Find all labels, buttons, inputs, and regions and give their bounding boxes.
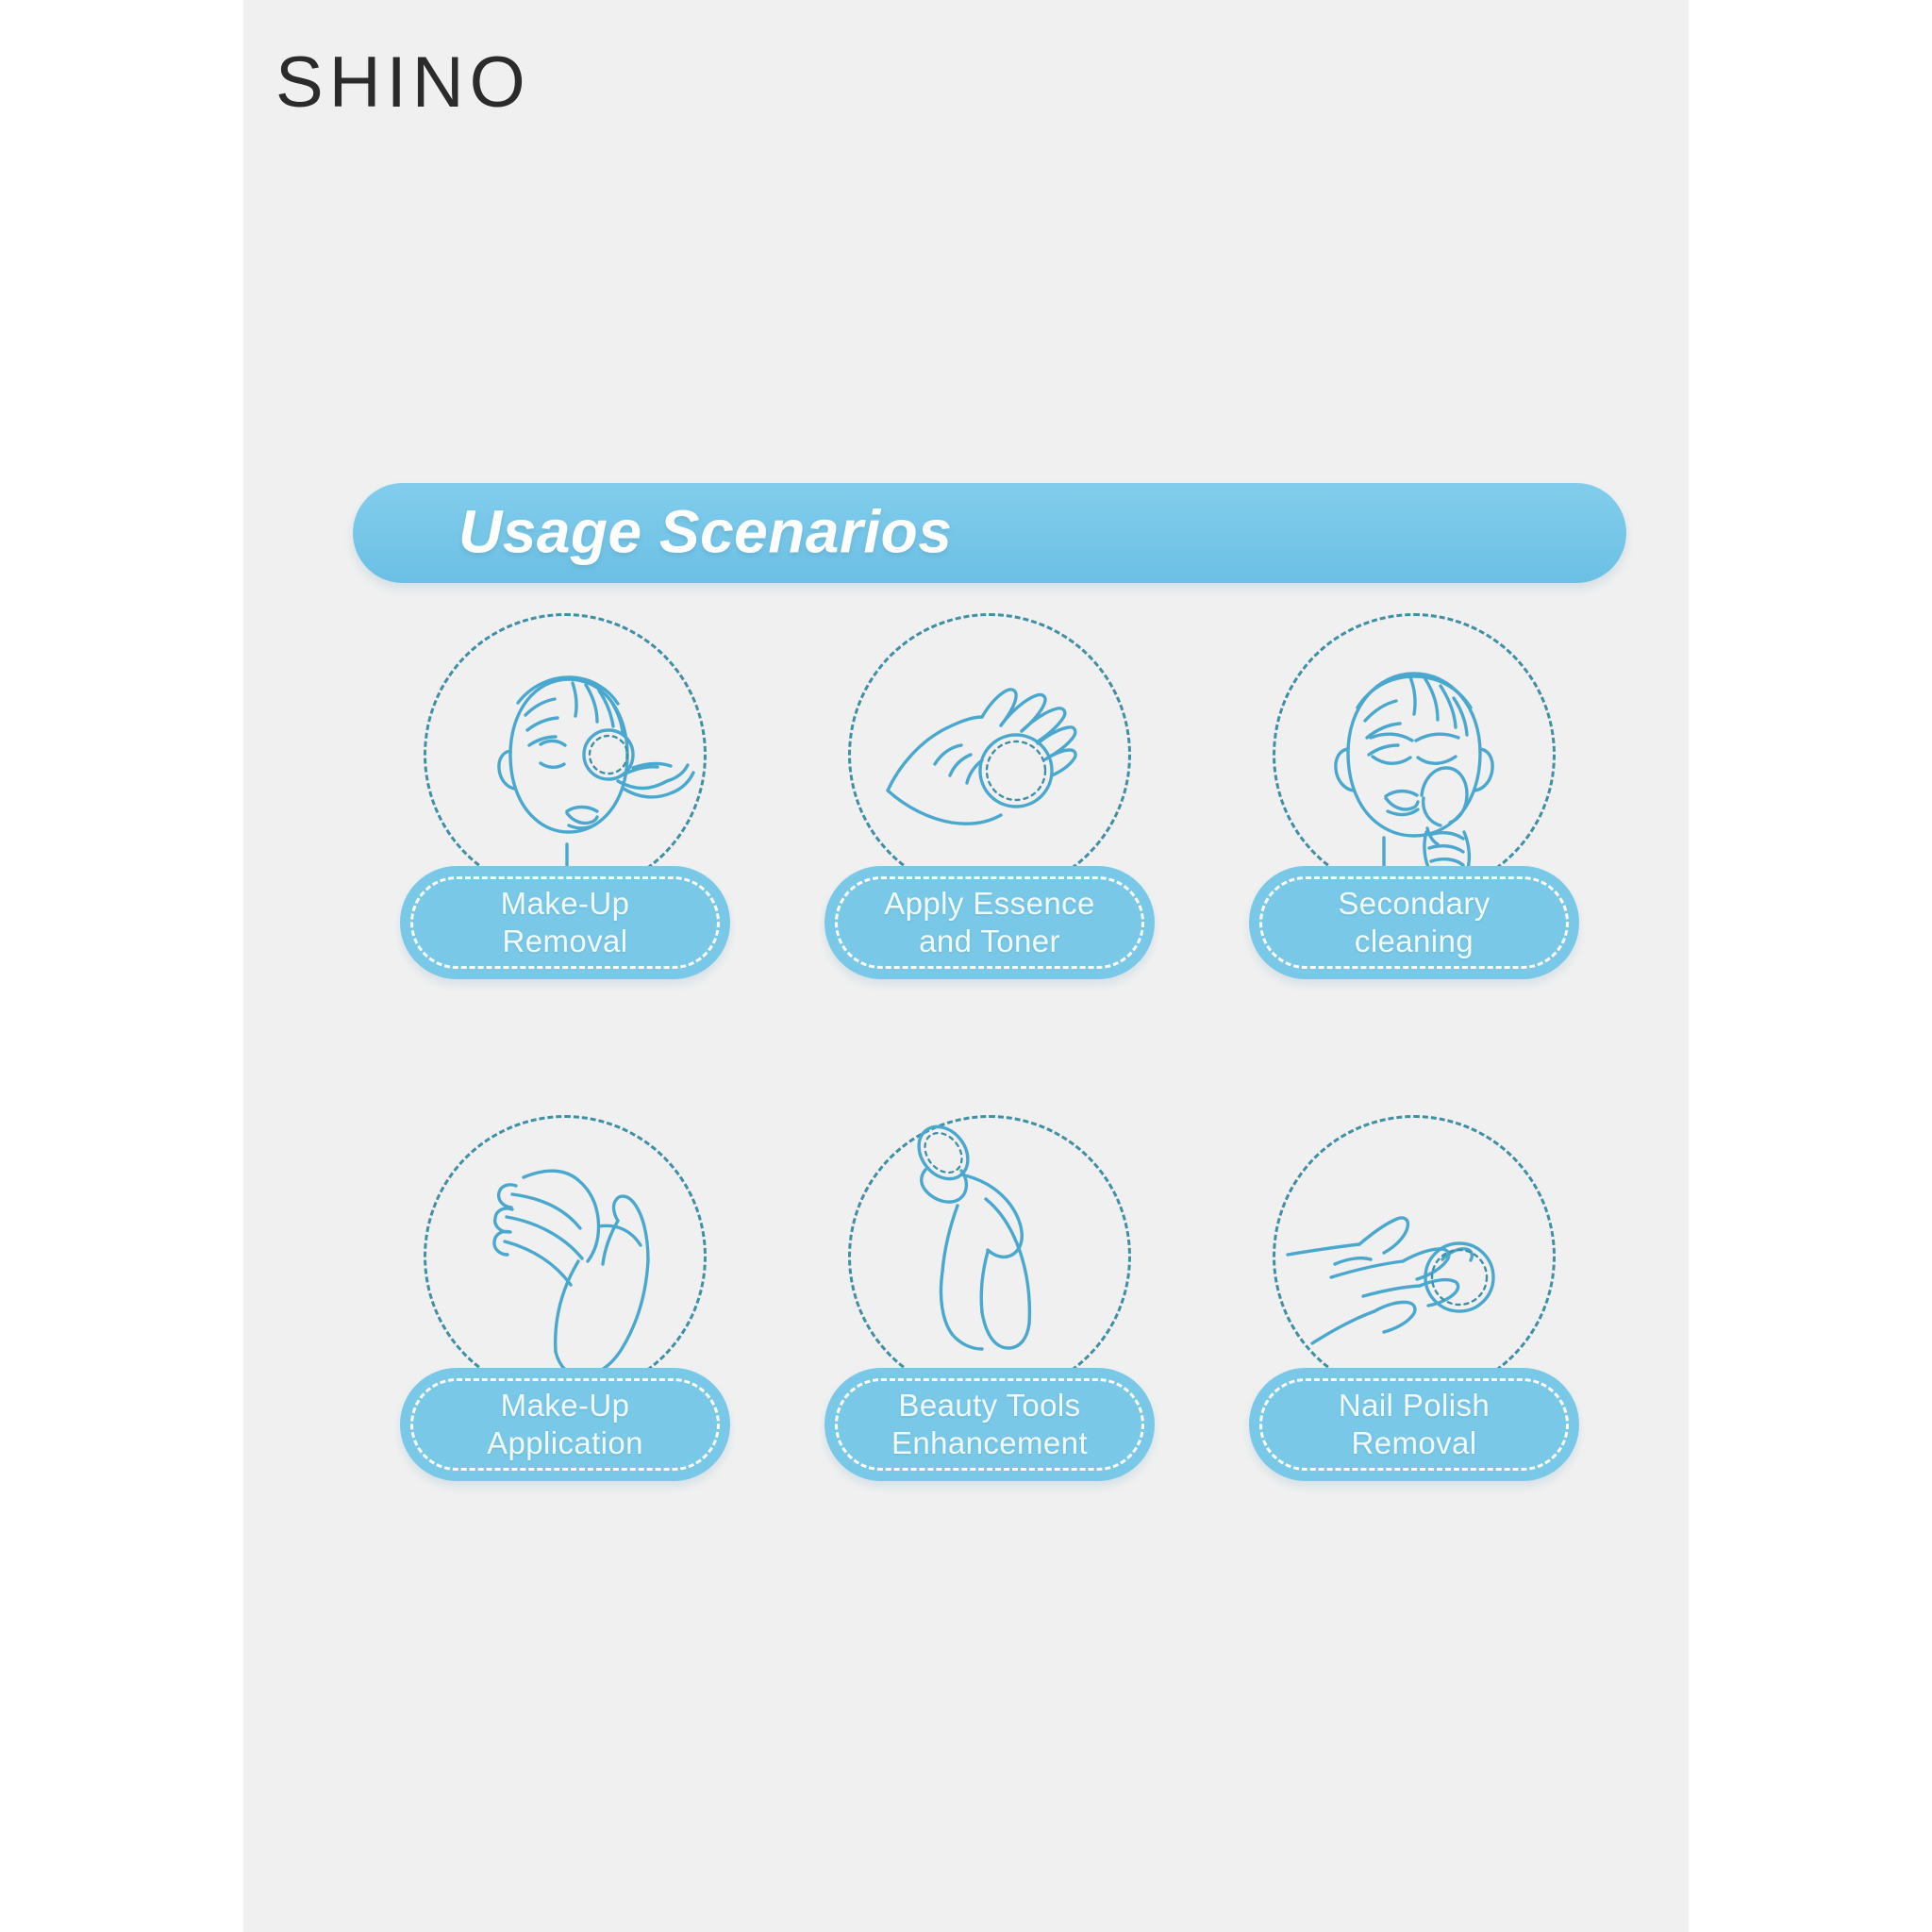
section-title: Usage Scenarios [458,497,952,567]
product-infographic-page: SHINO Usage Scenarios [0,0,1932,1932]
scenario-label: Nail Polish Removal [1339,1387,1490,1463]
scenario-label: Beauty Tools Enhancement [891,1387,1088,1463]
illustration-frame [1273,1115,1556,1398]
face-puff-cheek-icon [1273,613,1556,896]
nails-hand-cotton-pad-icon [1273,1115,1556,1398]
scenario-card-make-up-application[interactable]: Make-Up Application [353,1115,777,1568]
scenario-label-pill[interactable]: Secondary cleaning [1249,866,1579,979]
illustration-frame [848,613,1131,896]
hand-fingers-pad-icon [424,1115,707,1398]
illustration-frame [1273,613,1556,896]
illustration-frame [848,1115,1131,1398]
scenario-card-make-up-removal[interactable]: Make-Up Removal [353,613,777,1066]
illustration-frame [424,613,707,896]
scenario-label-pill[interactable]: Nail Polish Removal [1249,1368,1579,1481]
scenario-card-apply-essence-and-toner[interactable]: Apply Essence and Toner [777,613,1202,1066]
brand-logo: SHINO [275,47,531,119]
scenario-label-pill[interactable]: Make-Up Removal [400,866,730,979]
scenario-label: Make-Up Application [487,1387,643,1463]
section-banner: Usage Scenarios [353,483,1626,583]
scenario-card-beauty-tools-enhancement[interactable]: Beauty Tools Enhancement [777,1115,1202,1568]
scenario-label-pill[interactable]: Make-Up Application [400,1368,730,1481]
face-cotton-pad-eye-icon [424,613,707,896]
illustration-frame [424,1115,707,1398]
scenario-grid: Make-Up Removal [353,613,1626,1568]
scenario-label: Secondary cleaning [1338,885,1490,961]
open-palm-cotton-pad-icon [848,613,1131,896]
scenario-label-pill[interactable]: Beauty Tools Enhancement [824,1368,1155,1481]
scenario-card-nail-polish-removal[interactable]: Nail Polish Removal [1202,1115,1626,1568]
scenario-card-secondary-cleaning[interactable]: Secondary cleaning [1202,613,1626,1066]
scenario-label-pill[interactable]: Apply Essence and Toner [824,866,1155,979]
scenario-label: Make-Up Removal [501,885,630,961]
scenario-label: Apply Essence and Toner [884,885,1095,961]
cleansing-brush-device-icon [848,1115,1131,1398]
